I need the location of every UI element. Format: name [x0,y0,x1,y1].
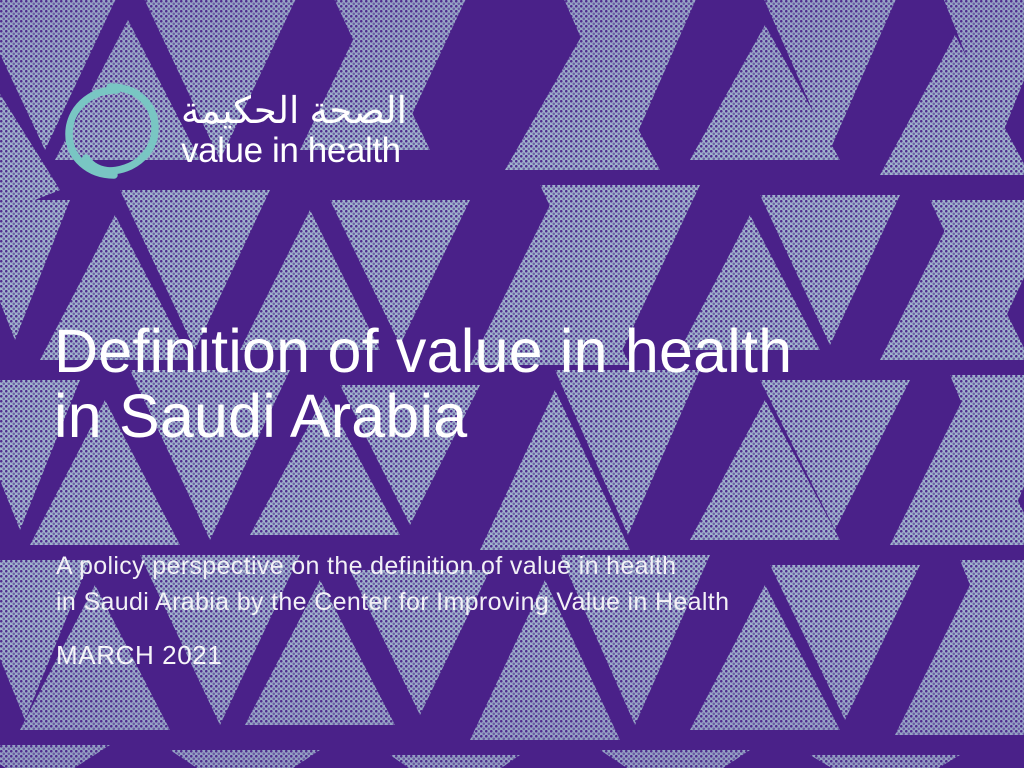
report-cover-page: الصحة الحكيمة value in health Definition… [0,0,1024,768]
brand-logo: الصحة الحكيمة value in health [55,78,407,184]
page-title: Definition of value in health in Saudi A… [54,319,974,450]
logo-arabic-wordmark: الصحة الحكيمة [181,92,407,129]
page-title-line-2: in Saudi Arabia [54,384,974,449]
page-subtitle-line-1: A policy perspective on the definition o… [56,548,996,584]
publication-date: MARCH 2021 [56,640,222,671]
logo-latin-wordmark: value in health [181,133,407,168]
cover-content: الصحة الحكيمة value in health Definition… [0,0,1024,768]
page-subtitle: A policy perspective on the definition o… [56,548,996,621]
double-c-monogram-icon [55,78,171,184]
logo-wordmark: الصحة الحكيمة value in health [181,92,407,170]
page-title-line-1: Definition of value in health [54,319,974,384]
page-subtitle-line-2: in Saudi Arabia by the Center for Improv… [56,584,996,620]
